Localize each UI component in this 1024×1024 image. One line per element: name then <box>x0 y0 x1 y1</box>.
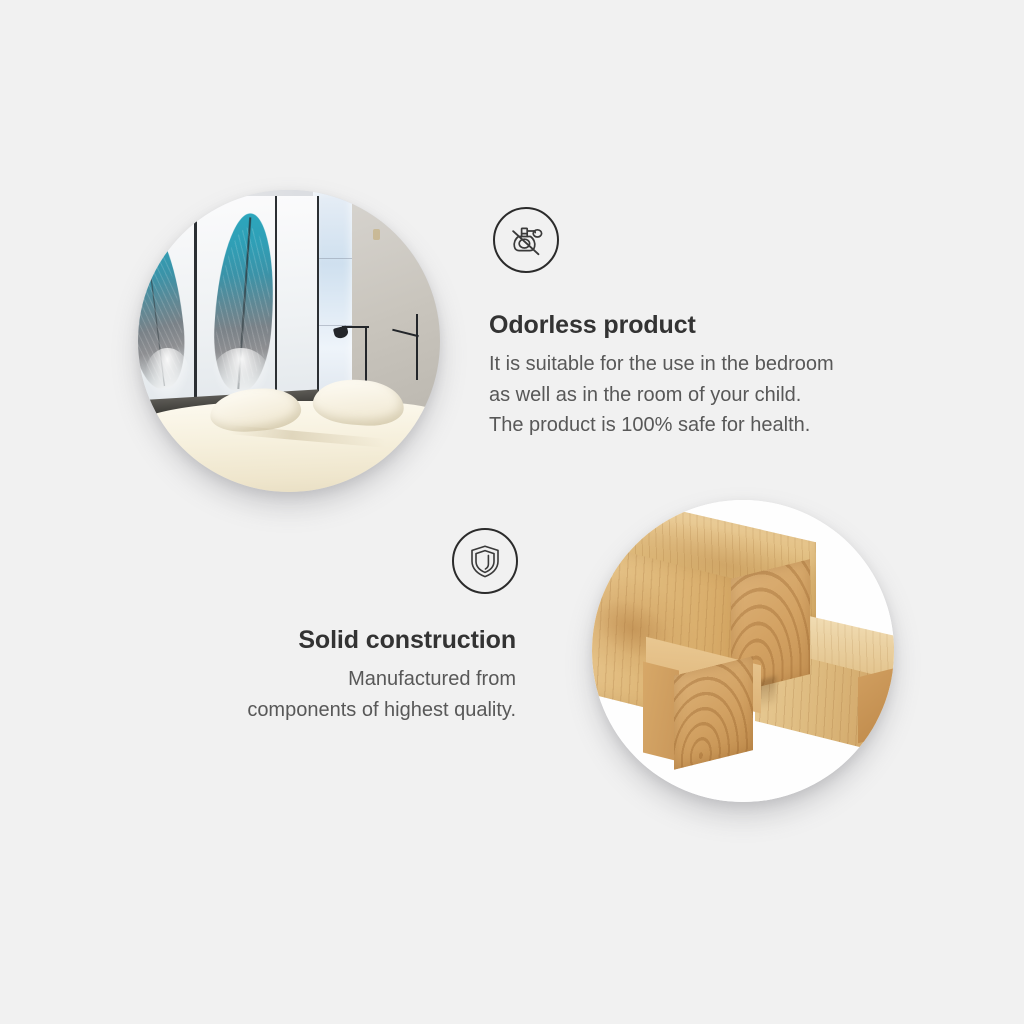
description-line: It is suitable for the use in the bedroo… <box>489 349 929 380</box>
feature-odorless-text: Odorless product It is suitable for the … <box>489 310 929 441</box>
bedroom-with-feather-canvas-photo <box>138 190 440 492</box>
feature-odorless-description: It is suitable for the use in the bedroo… <box>489 349 929 441</box>
feature-solid-construction-title: Solid construction <box>116 625 516 655</box>
description-line: components of highest quality. <box>116 695 516 726</box>
feather-canvas-panel-1 <box>138 196 196 407</box>
wooden-blocks-scene <box>592 500 894 802</box>
no-odor-glyph <box>504 218 548 262</box>
feather-wisp <box>145 348 190 403</box>
shield-icon <box>452 528 518 594</box>
shield-glyph <box>465 541 505 581</box>
infographic-canvas: Odorless product It is suitable for the … <box>0 0 1024 1024</box>
wood-beam-right-end-grain <box>858 667 894 744</box>
no-odor-perfume-bottle-icon <box>493 207 559 273</box>
description-line: Manufactured from <box>116 664 516 695</box>
feature-solid-construction-text: Solid construction Manufactured from com… <box>116 625 516 725</box>
bedroom-scene <box>138 190 440 492</box>
description-line: The product is 100% safe for health. <box>489 410 929 441</box>
second-lamp-pole <box>416 314 418 380</box>
wooden-blocks-photo <box>592 500 894 802</box>
description-line: as well as in the room of your child. <box>489 380 929 411</box>
bedroom-window <box>313 190 352 401</box>
feature-odorless-title: Odorless product <box>489 310 929 340</box>
feature-solid-construction-description: Manufactured from components of highest … <box>116 664 516 725</box>
feather-canvas-panel-2 <box>195 196 278 407</box>
feather-canvas-panel-3 <box>275 196 318 407</box>
wood-block-front-end-grain <box>674 656 753 769</box>
